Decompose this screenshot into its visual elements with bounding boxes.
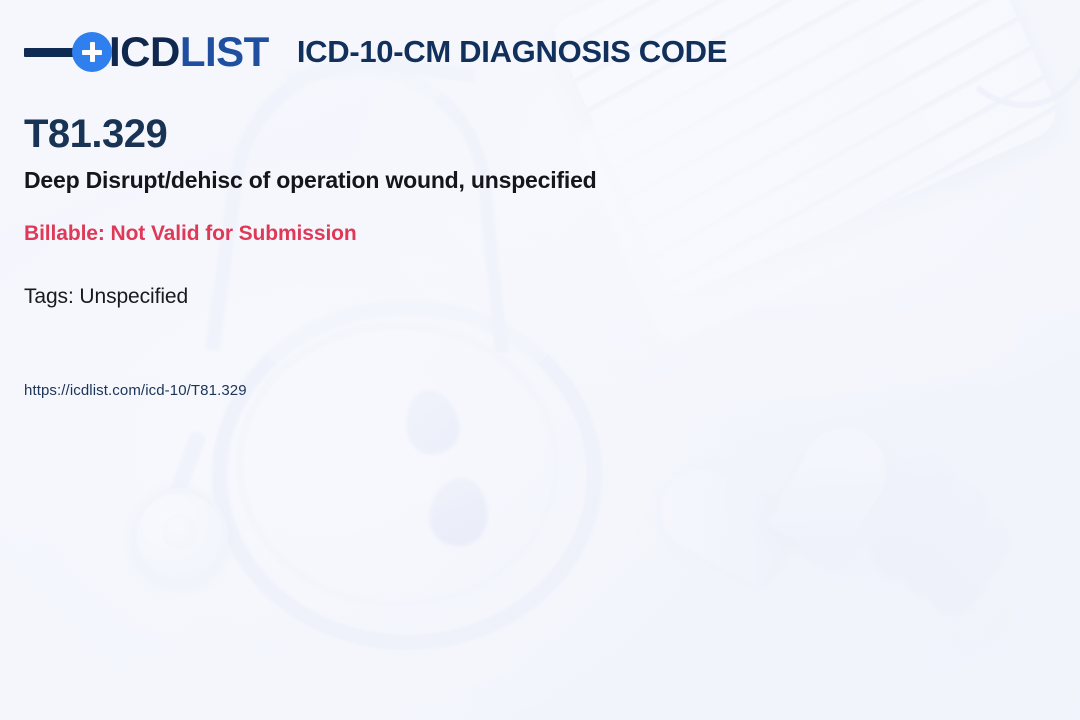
icdlist-logo[interactable]: ICDLIST xyxy=(24,28,269,76)
medical-plus-icon xyxy=(72,32,112,72)
tags-label: Tags: Unspecified xyxy=(24,285,188,309)
logo-wordmark: ICDLIST xyxy=(109,31,269,73)
source-url[interactable]: https://icdlist.com/icd-10/T81.329 xyxy=(24,382,247,399)
diagnosis-code: T81.329 xyxy=(24,112,167,156)
header: ICDLIST ICD-10-CM DIAGNOSIS CODE xyxy=(24,28,727,76)
icd-code-card: ICDLIST ICD-10-CM DIAGNOSIS CODE T81.329… xyxy=(0,0,1080,720)
background-fade-veil xyxy=(0,0,1080,720)
logo-word-icd: ICD xyxy=(109,28,180,75)
background-photo xyxy=(0,0,1080,720)
logo-dash-icon xyxy=(24,48,76,57)
logo-word-list: LIST xyxy=(180,28,269,75)
billable-status: Billable: Not Valid for Submission xyxy=(24,222,357,246)
diagnosis-description: Deep Disrupt/dehisc of operation wound, … xyxy=(24,166,597,195)
page-title: ICD-10-CM DIAGNOSIS CODE xyxy=(297,34,727,70)
